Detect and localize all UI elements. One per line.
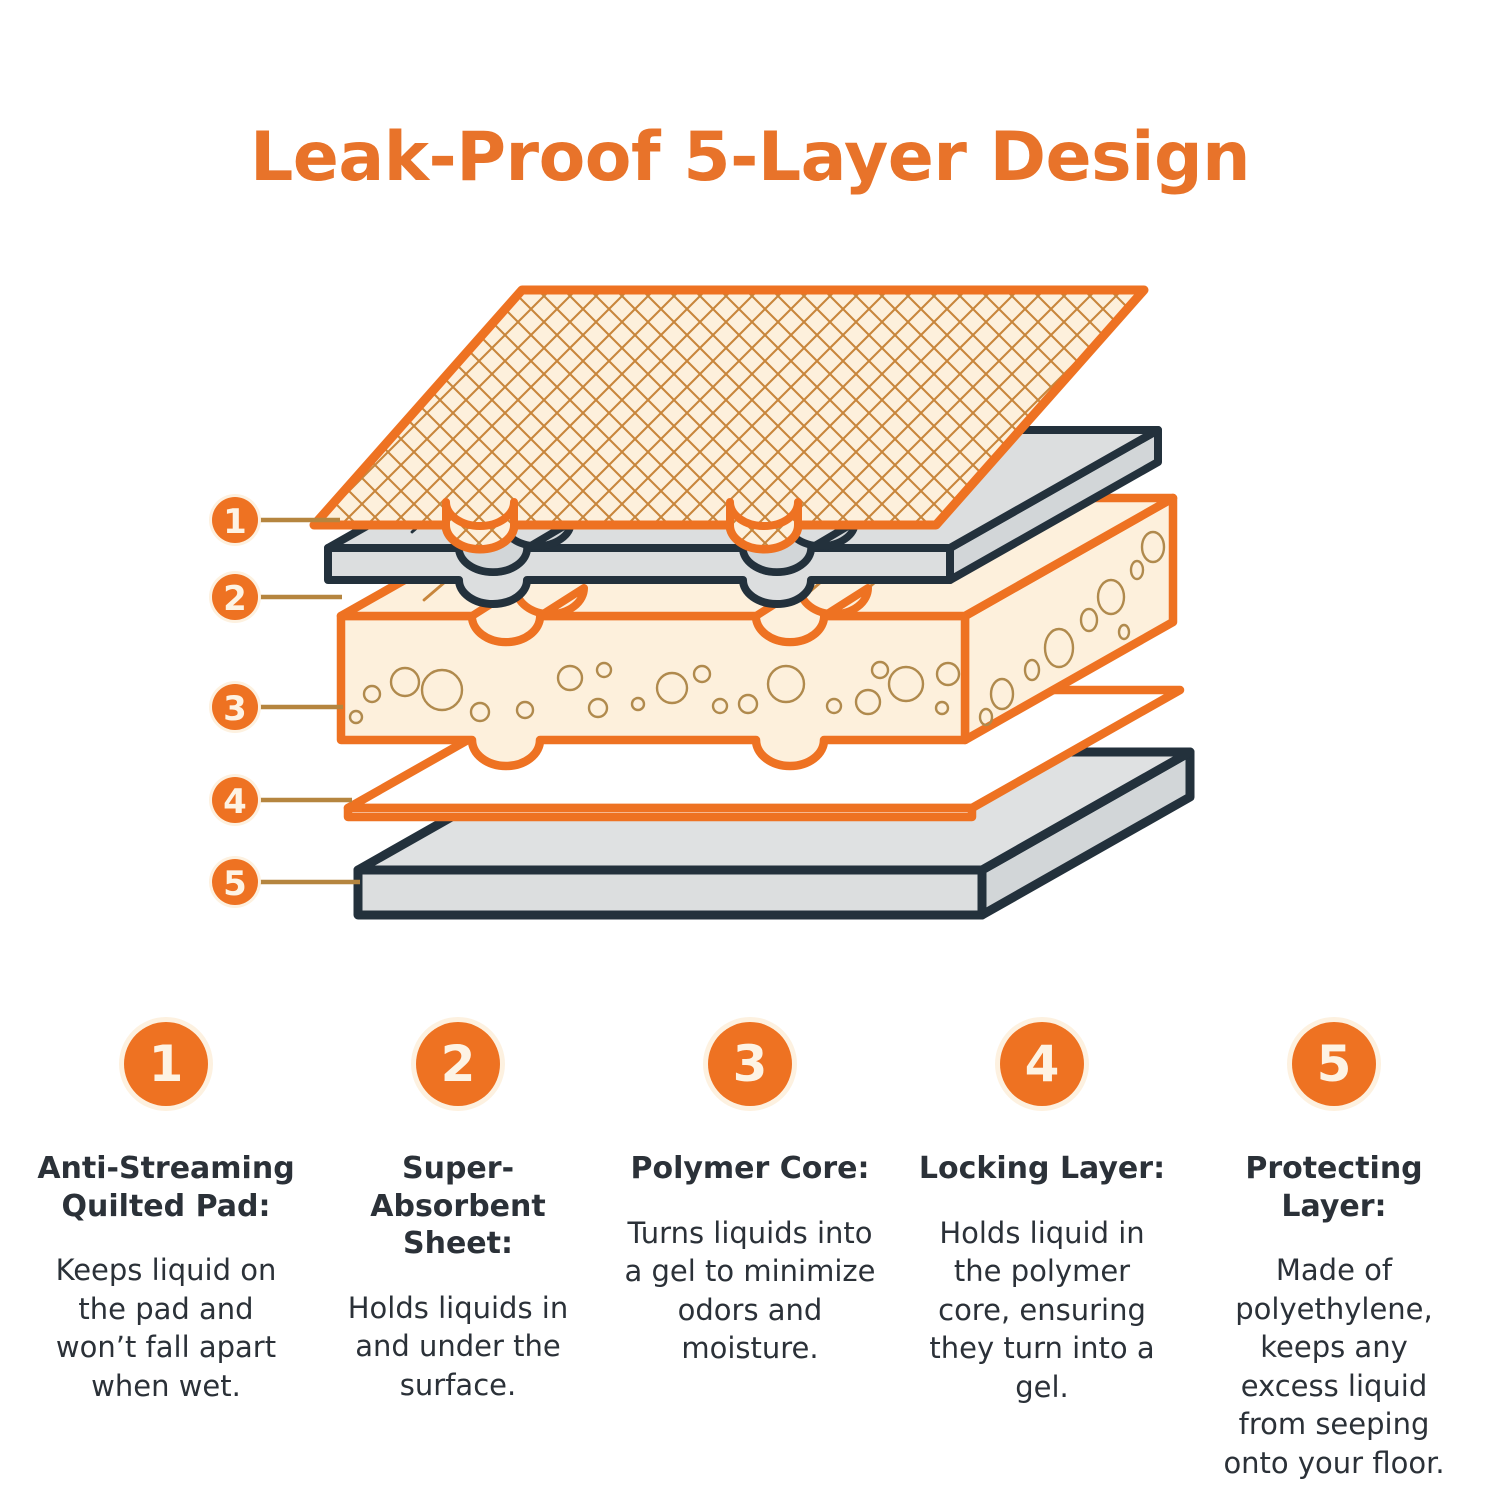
layer-stack-svg: 1 2 3 4 5 [180, 270, 1300, 950]
legend-body-4: Holds liquid in the polymer core, ensuri… [916, 1214, 1168, 1407]
legend-body-1: Keeps liquid on the pad and won’t fall a… [40, 1251, 292, 1405]
diagram-callout-badge-3: 3 [209, 681, 261, 733]
legend-item-1: 1 Anti-Streaming Quilted Pad: Keeps liqu… [28, 1022, 304, 1405]
legend-badge-4: 4 [1000, 1022, 1084, 1106]
diagram-callout-label-1: 1 [223, 502, 247, 542]
diagram-callout-label-4: 4 [223, 782, 247, 822]
diagram-callout-label-5: 5 [223, 864, 247, 904]
diagram-callout-badge-5: 5 [209, 856, 261, 908]
legend-body-3: Turns liquids into a gel to minimize odo… [624, 1214, 876, 1368]
legend-heading-4: Locking Layer: [919, 1150, 1165, 1188]
legend-heading-2: Super-Absorbent Sheet: [323, 1150, 593, 1263]
legend-heading-3: Polymer Core: [630, 1150, 869, 1188]
legend-item-5: 5 Protecting Layer: Made of polyethylene… [1196, 1022, 1472, 1482]
legend-badge-2: 2 [416, 1022, 500, 1106]
legend-item-2: 2 Super-Absorbent Sheet: Holds liquids i… [320, 1022, 596, 1404]
layer-stack-diagram: 1 2 3 4 5 [180, 270, 1300, 950]
diagram-callout-badge-1: 1 [209, 494, 261, 546]
diagram-callout-label-3: 3 [223, 689, 247, 729]
legend-row: 1 Anti-Streaming Quilted Pad: Keeps liqu… [0, 1022, 1500, 1492]
legend-body-5: Made of polyethylene, keeps any excess l… [1208, 1251, 1460, 1482]
legend-badge-3: 3 [708, 1022, 792, 1106]
diagram-callout-badge-2: 2 [209, 571, 261, 623]
legend-heading-1: Anti-Streaming Quilted Pad: [31, 1150, 301, 1225]
legend-item-4: 4 Locking Layer: Holds liquid in the pol… [904, 1022, 1180, 1406]
legend-body-2: Holds liquids in and under the surface. [332, 1289, 584, 1405]
legend-badge-1: 1 [124, 1022, 208, 1106]
diagram-callout-label-2: 2 [223, 579, 247, 619]
legend-heading-5: Protecting Layer: [1199, 1150, 1469, 1225]
legend-item-3: 3 Polymer Core: Turns liquids into a gel… [612, 1022, 888, 1368]
page-title: Leak-Proof 5-Layer Design [0, 118, 1500, 197]
diagram-callout-badge-4: 4 [209, 774, 261, 826]
legend-badge-5: 5 [1292, 1022, 1376, 1106]
